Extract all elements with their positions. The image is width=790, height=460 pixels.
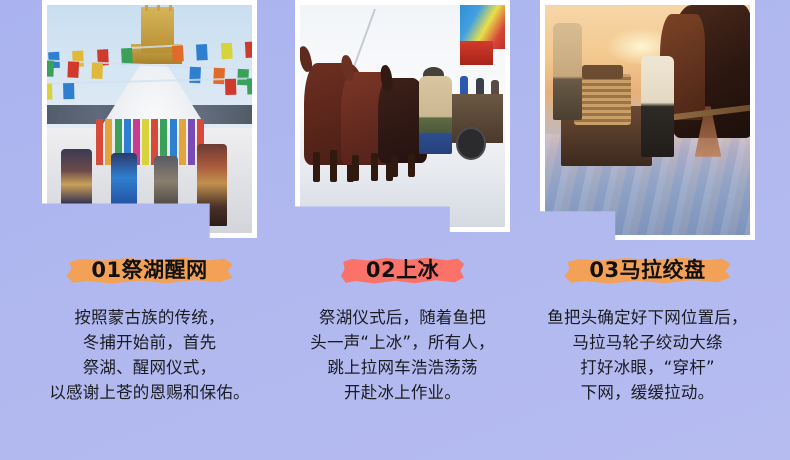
step-badge-wrap-1: 01祭湖醒网 [42, 256, 257, 286]
photo2-red-flag [460, 41, 493, 65]
step-badge-3: 03马拉绞盘 [573, 256, 721, 286]
photo3-worker-front [641, 56, 674, 157]
step-description-2: 祭湖仪式后，随着鱼把 头一声“上冰”，所有人， 跳上拉网车浩浩荡荡 开赴冰上作业… [285, 305, 520, 405]
photo3-winch-rope-drum [574, 74, 631, 125]
step-photo-frame-2 [295, 0, 510, 232]
step-photo-frame-3 [540, 0, 755, 240]
step-photo-2 [300, 5, 505, 227]
step-photo-frame-1 [42, 0, 257, 238]
step-badge-wrap-2: 02上冰 [295, 256, 510, 286]
step-description-3: 鱼把头确定好下网位置后， 马拉马轮子绞动大绦 打好冰眼，“穿杆” 下网，缓缓拉动… [526, 305, 769, 405]
step-photo-3 [545, 5, 750, 235]
step-badge-wrap-3: 03马拉绞盘 [540, 256, 755, 286]
step-badge-2: 02上冰 [350, 256, 455, 286]
photo1-participant-2 [111, 153, 138, 226]
step-badge-label-3: 03马拉绞盘 [589, 258, 705, 282]
photo1-participant-3 [154, 156, 179, 227]
photo1-participant-4 [197, 144, 228, 226]
step-column-2: 02上冰 祭湖仪式后，随着鱼把 头一声“上冰”，所有人， 跳上拉网车浩浩荡荡 开… [295, 0, 510, 460]
step-column-1: 01祭湖醒网 按照蒙古族的传统， 冬捕开始前，首先 祭湖、醒网仪式， 以感谢上苍… [42, 0, 257, 460]
step-column-3: 03马拉绞盘 鱼把头确定好下网位置后， 马拉马轮子绞动大绦 打好冰眼，“穿杆” … [540, 0, 755, 460]
photo2-driver [419, 76, 452, 154]
photo3-winch-drum-cap [582, 65, 623, 79]
photo2-cart-wheel [456, 127, 487, 160]
photo1-participant-1 [61, 149, 92, 227]
step-photo-1 [47, 5, 252, 233]
step-badge-label-1: 01祭湖醒网 [91, 258, 207, 282]
winter-fishing-infographic: 01祭湖醒网 按照蒙古族的传统， 冬捕开始前，首先 祭湖、醒网仪式， 以感谢上苍… [0, 0, 790, 460]
step-description-1: 按照蒙古族的传统， 冬捕开始前，首先 祭湖、醒网仪式， 以感谢上苍的恩赐和保佑。 [30, 305, 269, 405]
step-badge-label-2: 02上冰 [366, 258, 439, 282]
step-badge-1: 01祭湖醒网 [75, 256, 223, 286]
photo3-worker-left [553, 23, 582, 120]
